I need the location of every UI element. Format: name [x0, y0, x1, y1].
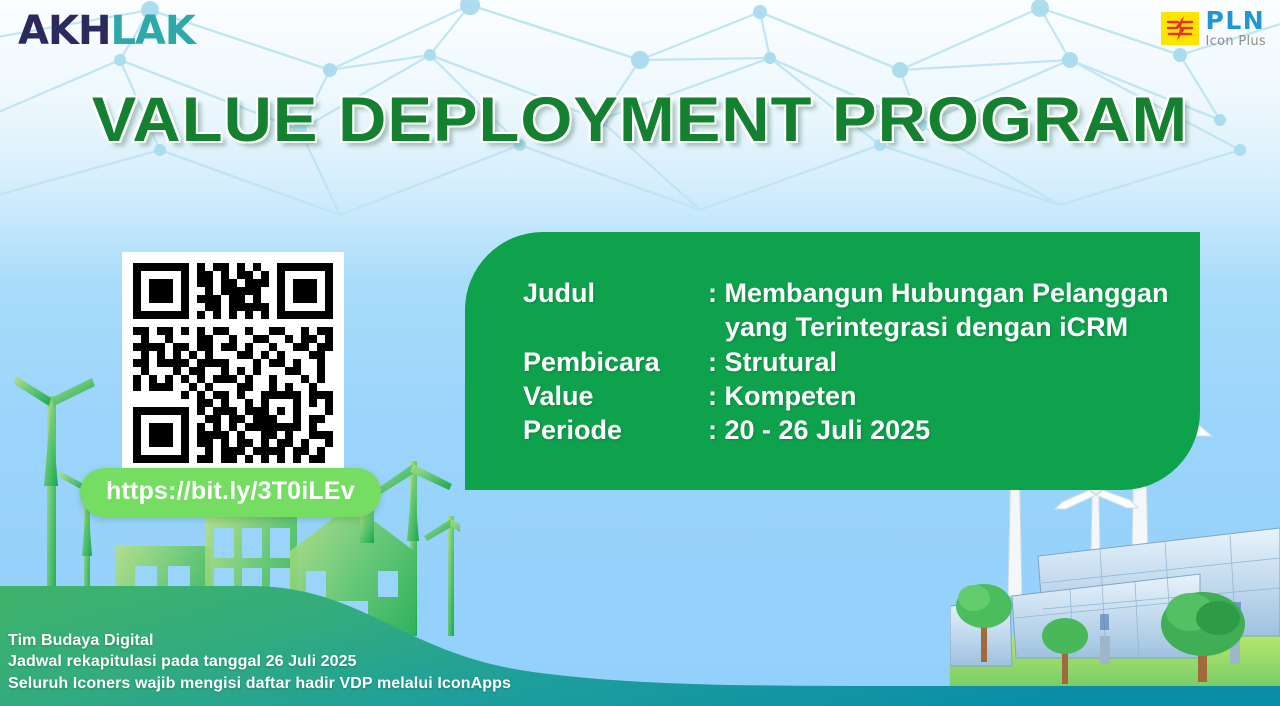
- footer-line-3: Seluruh Iconers wajib mengisi daftar had…: [8, 673, 511, 694]
- qr-code-image[interactable]: [133, 263, 333, 463]
- pln-icon-plus-logo: PLN Icon Plus: [1161, 8, 1266, 48]
- footer-line-2: Jadwal rekapitulasi pada tanggal 26 Juli…: [8, 651, 511, 672]
- event-info-grid: Judul : Membangun Hubungan Pelanggan yan…: [523, 276, 1169, 447]
- akhlak-logo-part2: LAK: [110, 8, 194, 54]
- info-label-value: Value: [523, 379, 708, 413]
- info-value-judul-line1: : Membangun Hubungan Pelanggan: [708, 278, 1169, 308]
- event-info-card: Judul : Membangun Hubungan Pelanggan yan…: [465, 232, 1200, 490]
- akhlak-logo: AKHLAK: [18, 8, 195, 54]
- short-url-pill[interactable]: https://bit.ly/3T0iLEv: [80, 468, 381, 517]
- qr-code-card[interactable]: [122, 252, 344, 474]
- info-value-value: : Kompeten: [708, 379, 1169, 413]
- info-label-pembicara: Pembicara: [523, 345, 708, 379]
- info-value-periode: : 20 - 26 Juli 2025: [708, 413, 1169, 447]
- info-value-judul-line2: yang Terintegrasi dengan iCRM: [708, 310, 1169, 344]
- info-value-judul: : Membangun Hubungan Pelanggan yang Teri…: [708, 276, 1169, 345]
- pln-lightning-icon: [1161, 12, 1199, 45]
- info-label-judul: Judul: [523, 276, 708, 345]
- info-label-periode: Periode: [523, 413, 708, 447]
- footer-line-1: Tim Budaya Digital: [8, 630, 511, 651]
- page-title: VALUE DEPLOYMENT PROGRAM: [0, 84, 1280, 156]
- footer-notes: Tim Budaya Digital Jadwal rekapitulasi p…: [8, 630, 511, 694]
- pln-logo-subtitle: Icon Plus: [1206, 35, 1266, 48]
- pln-logo-name: PLN: [1206, 8, 1266, 33]
- akhlak-logo-part1: AKH: [18, 8, 110, 54]
- poster-canvas: AKHLAK PLN Icon Plus VALUE DEPLOYMENT PR…: [0, 0, 1280, 706]
- info-value-pembicara: : Strutural: [708, 345, 1169, 379]
